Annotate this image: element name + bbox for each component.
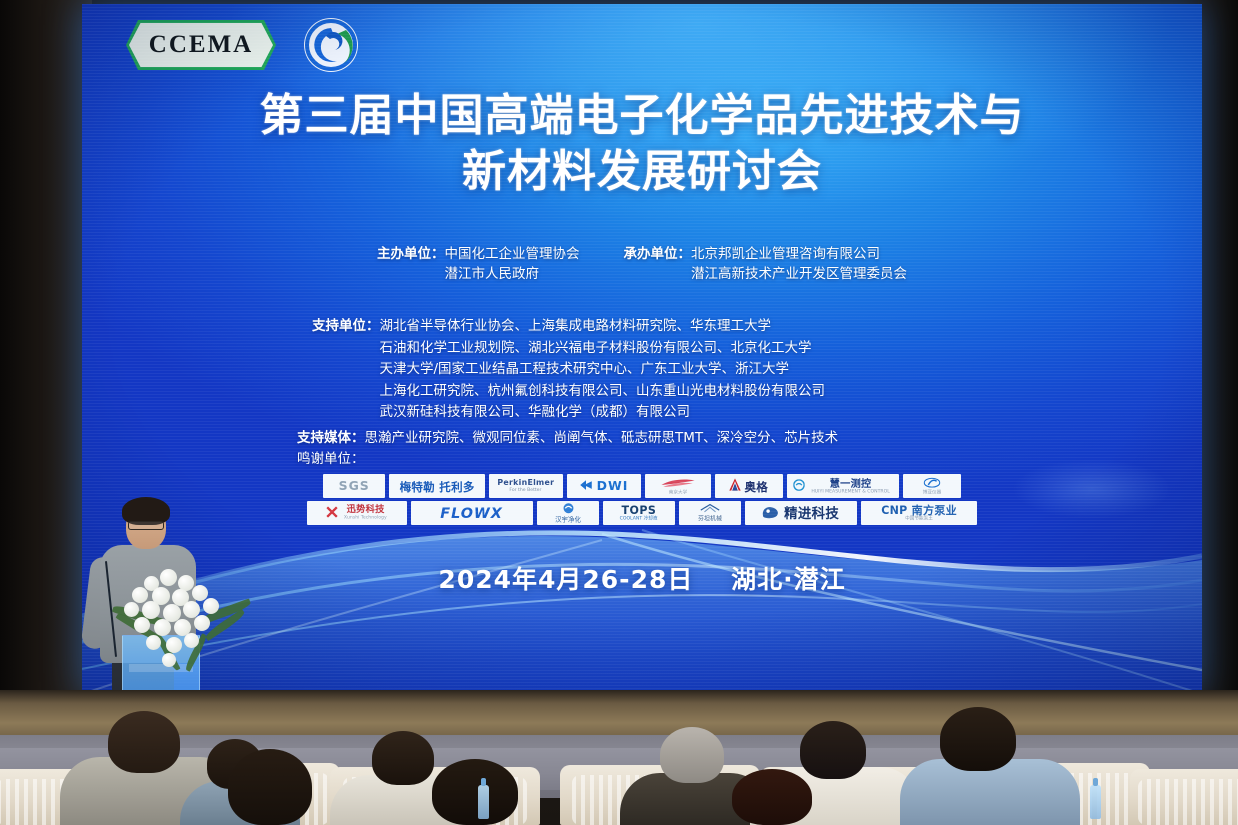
photo-scene: CCEMA 第三届中国高端电子化学品先进技术与 新材料发展研讨会: [0, 0, 1238, 825]
undertaker-organizer: 承办单位： 北京邦凯企业管理咨询有限公司 潜江高新技术产业开发区管理委员会: [624, 244, 908, 284]
sponsor-row-2: 迅势科技 Xunshi Technology FLOWX 汉宇净化: [307, 501, 977, 525]
water-bottle: [1090, 785, 1101, 819]
event-title-line2: 新材料发展研讨会: [82, 144, 1202, 200]
sponsor-sub: 中国节能泵王: [905, 517, 933, 522]
chair: [1130, 769, 1238, 825]
host-value-1: 潜江市人民政府: [445, 264, 580, 284]
support-value-3: 上海化工研究院、杭州氟创科技有限公司、山东重山光电材料股份有限公司: [380, 381, 826, 403]
ccema-swirl-icon: [302, 16, 360, 74]
media-block: 支持媒体： 思瀚产业研究院、微观同位素、尚阐气体、砥志研思TMT、深冷空分、芯片…: [82, 428, 1202, 470]
sponsor-logo: 慧一测控 HUIYI MEASUREMENT & CONTROL: [787, 474, 899, 498]
sponsor-name: SGS: [339, 479, 370, 493]
sponsor-logo: DWI: [567, 474, 641, 498]
sponsor-logo: TOPS COOLANT 冷却液: [603, 501, 675, 525]
aoge-mark-icon: [729, 478, 741, 493]
sponsor-name: 汉宇净化: [555, 517, 581, 524]
sponsor-name: CNP 南方泵业: [881, 505, 957, 517]
host-value-0: 中国化工企业管理协会: [445, 244, 580, 264]
dwi-mark-icon: [579, 479, 592, 493]
support-value-1: 石油和化学工业规划院、湖北兴福电子材料股份有限公司、北京化工大学: [380, 338, 826, 360]
water-bottle: [478, 785, 489, 819]
event-title: 第三届中国高端电子化学品先进技术与 新材料发展研讨会: [82, 88, 1202, 201]
support-label: 支持单位：: [312, 316, 380, 424]
support-value-2: 天津大学/国家工业结晶工程技术研究中心、广东工业大学、浙江大学: [380, 359, 826, 381]
sponsor-logo: 迅势科技 Xunshi Technology: [307, 501, 407, 525]
huiyi-mark-icon: [793, 479, 805, 493]
sponsor-name: FLOWX: [441, 504, 504, 521]
sponsor-row-1: SGS 梅特勒 托利多 PerkinElmer For the Better: [323, 474, 961, 498]
sponsor-logo: SGS: [323, 474, 385, 498]
undertaker-label: 承办单位：: [624, 244, 692, 284]
sponsor-sub: COOLANT 冷却液: [620, 517, 658, 522]
audience-area: [0, 700, 1238, 825]
sponsor-logo: 南京大学: [645, 474, 711, 498]
sponsor-sub: HUIYI MEASUREMENT & CONTROL: [811, 489, 889, 494]
sponsor-logo: CNP 南方泵业 中国节能泵王: [861, 501, 977, 525]
media-line: 支持媒体： 思瀚产业研究院、微观同位素、尚阐气体、砥志研思TMT、深冷空分、芯片…: [297, 428, 987, 449]
host-organizer: 主办单位： 中国化工企业管理协会 潜江市人民政府: [377, 244, 580, 284]
sponsor-logo: 汉宇净化: [537, 501, 599, 525]
sponsor-name: 芬坦机械: [698, 516, 722, 522]
support-units-block: 支持单位： 湖北省半导体行业协会、上海集成电路材料研究院、华东理工大学 石油和化…: [82, 316, 1202, 424]
attendee-head: [372, 731, 434, 785]
fentan-mark-icon: [700, 504, 720, 516]
attendee-head: [940, 707, 1016, 771]
ccema-badge: CCEMA: [126, 20, 276, 70]
host-label: 主办单位：: [377, 244, 445, 284]
undertaker-value-0: 北京邦凯企业管理咨询有限公司: [691, 244, 907, 264]
media-label: 支持媒体：: [297, 428, 365, 449]
sponsor-sub: Xunshi Technology: [344, 516, 387, 521]
bouquet: [118, 567, 244, 677]
sponsor-name: 奥格: [744, 478, 768, 494]
organizer-block: 主办单位： 中国化工企业管理协会 潜江市人民政府 承办单位： 北京邦凯企业管理咨…: [82, 244, 1202, 284]
undertaker-value-1: 潜江高新技术产业开发区管理委员会: [691, 264, 907, 284]
sponsor-name: 博亚仪器: [923, 490, 941, 495]
hanyu-mark-icon: [562, 503, 574, 516]
sponsor-name: DWI: [596, 479, 628, 493]
attendee-head: [228, 749, 312, 825]
sponsor-logo: 博亚仪器: [903, 474, 961, 498]
right-wall: [1198, 0, 1238, 700]
attendee-head: [108, 711, 180, 773]
sponsor-name: TOPS: [622, 505, 657, 517]
sponsor-name: 南京大学: [669, 490, 687, 495]
attendee-head: [732, 769, 812, 825]
attendee-head: [660, 727, 724, 783]
speaker-glasses: [128, 521, 164, 530]
sponsor-sub: For the Better: [510, 488, 542, 493]
attendee-head: [800, 721, 866, 779]
boya-mark-icon: [924, 477, 941, 489]
sponsor-logo: FLOWX: [411, 501, 533, 525]
sponsor-logo: 芬坦机械: [679, 501, 741, 525]
support-value-4: 武汉新硅科技有限公司、华融化学（成都）有限公司: [380, 402, 826, 424]
sponsor-name: 迅势科技: [346, 506, 384, 516]
jingjin-mark-icon: [762, 505, 780, 521]
media-value-0: 思瀚产业研究院、微观同位素、尚阐气体、砥志研思TMT、深冷空分、芯片技术: [365, 428, 839, 449]
attendee-head: [432, 759, 518, 825]
flower-arrangement: [118, 567, 244, 677]
screen-logo-row: CCEMA: [126, 16, 360, 74]
xunshi-x-icon: [326, 506, 338, 520]
support-value-0: 湖北省半导体行业协会、上海集成电路材料研究院、华东理工大学: [380, 316, 826, 338]
event-date: 2024年4月26-28日: [438, 565, 693, 594]
nju-bird-icon: [659, 477, 696, 489]
sponsor-logo: 梅特勒 托利多: [389, 474, 485, 498]
sponsor-name: 慧一测控: [829, 478, 871, 489]
sponsor-name: 精进科技: [785, 503, 840, 522]
ccema-label: CCEMA: [149, 31, 253, 59]
event-title-line1: 第三届中国高端电子化学品先进技术与: [260, 90, 1025, 141]
sponsor-logo: PerkinElmer For the Better: [489, 474, 563, 498]
sponsor-logo: 精进科技: [745, 501, 857, 525]
thanks-label: 鸣谢单位：: [297, 449, 987, 470]
sponsor-name: 梅特勒 托利多: [400, 478, 475, 494]
sponsor-logo: 奥格: [715, 474, 783, 498]
event-place: 湖北·潜江: [731, 565, 846, 594]
